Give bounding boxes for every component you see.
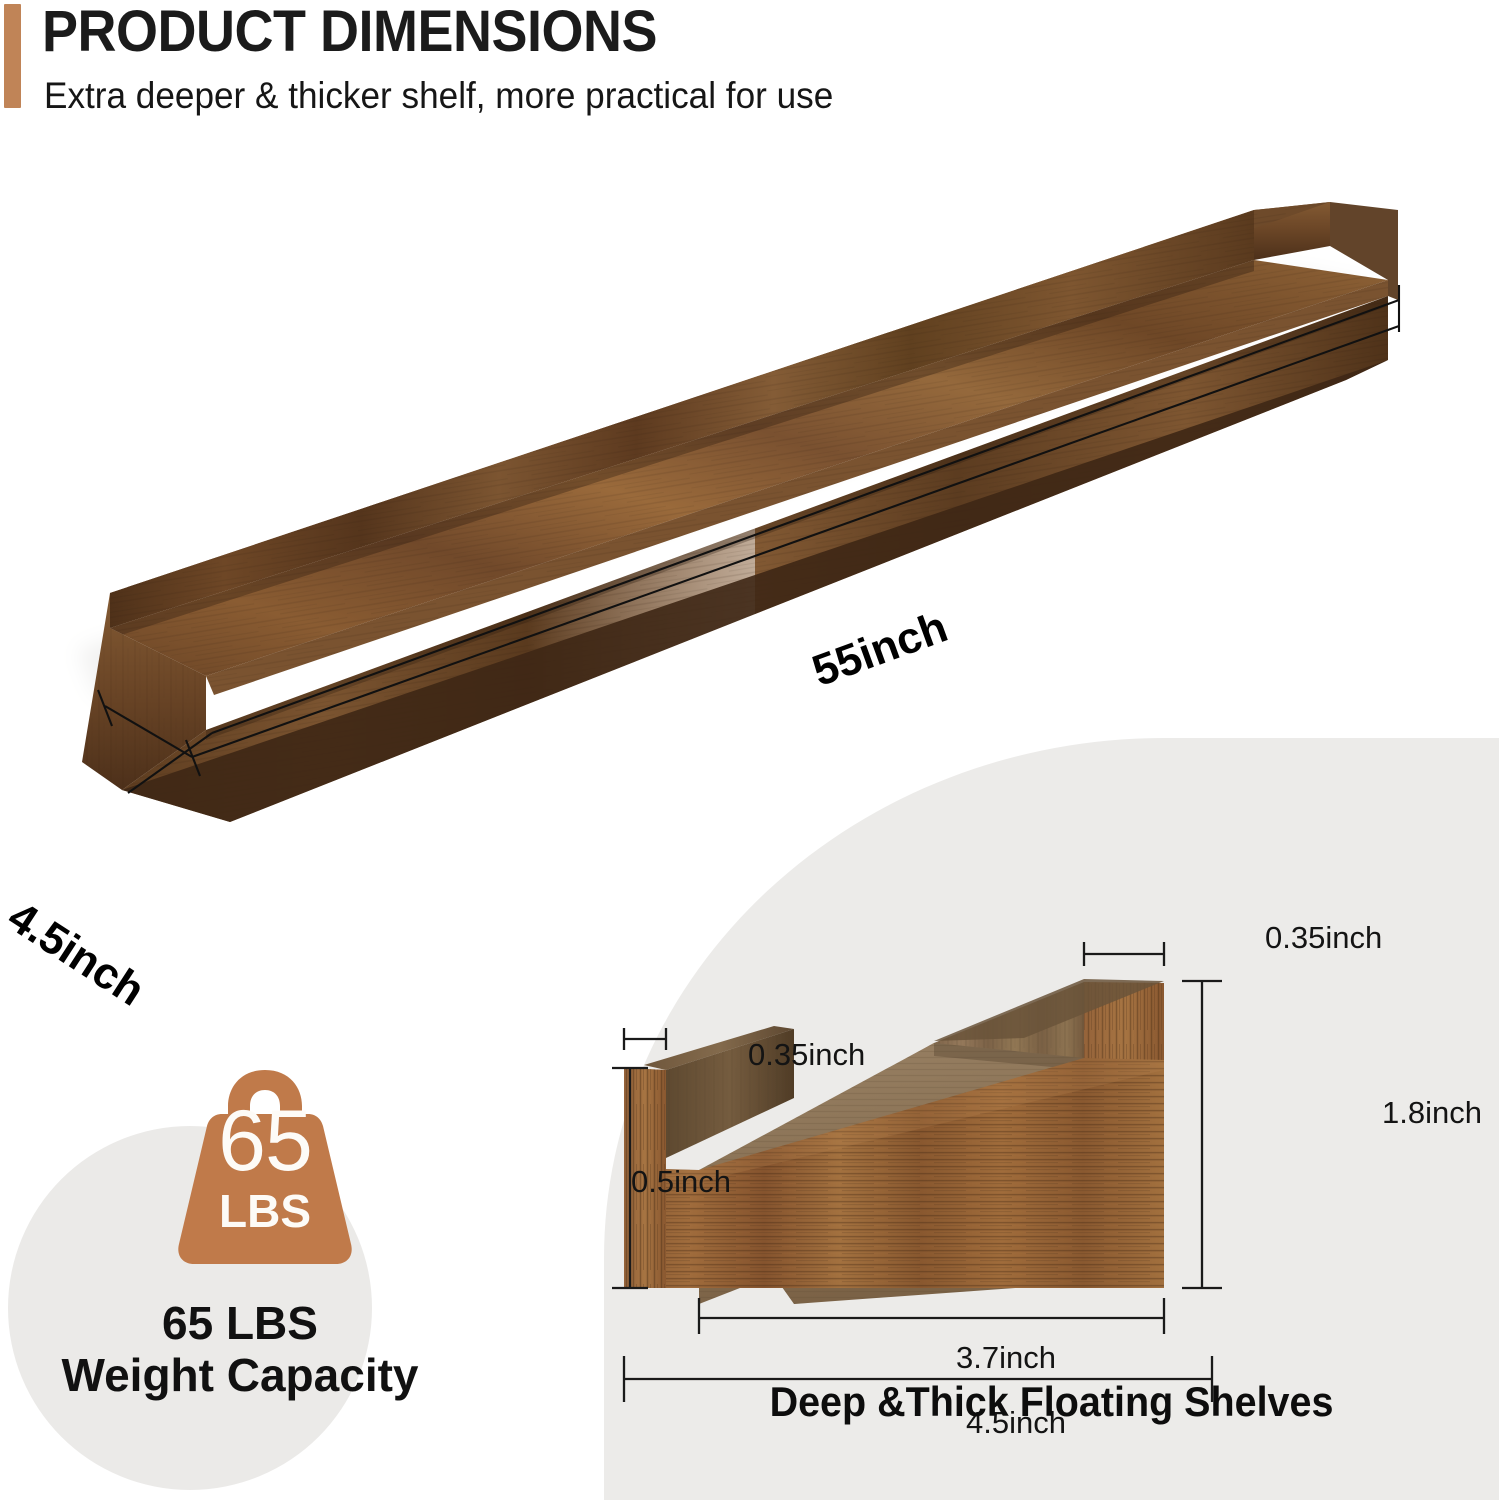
xsec-label-back-wall-thickness: 0.35inch [1265, 920, 1382, 956]
weight-caption-line1: 65 LBS [0, 1296, 480, 1350]
accent-bar [4, 4, 21, 108]
page-subtitle: Extra deeper & thicker shelf, more pract… [44, 76, 833, 117]
shelf-front-lip [206, 280, 1388, 695]
weight-caption-line2: Weight Capacity [0, 1348, 480, 1402]
page-title: PRODUCT DIMENSIONS [42, 2, 657, 63]
cross-section-caption: Deep &Thick Floating Shelves [631, 1378, 1472, 1426]
xsec-label-inner-depth: 3.7inch [956, 1340, 1056, 1376]
infographic-root: PRODUCT DIMENSIONS Extra deeper & thicke… [0, 0, 1499, 1500]
weight-value: 65 [170, 1098, 360, 1184]
weight-unit: LBS [170, 1188, 360, 1234]
depth-dimension-label: 4.5inch [0, 892, 153, 1017]
xsec-label-back-wall-height: 1.8inch [1382, 1095, 1482, 1131]
xsec-label-front-lip-thickness: 0.35inch [748, 1037, 865, 1073]
xsec-label-front-lip-height: 0.5inch [631, 1164, 731, 1200]
